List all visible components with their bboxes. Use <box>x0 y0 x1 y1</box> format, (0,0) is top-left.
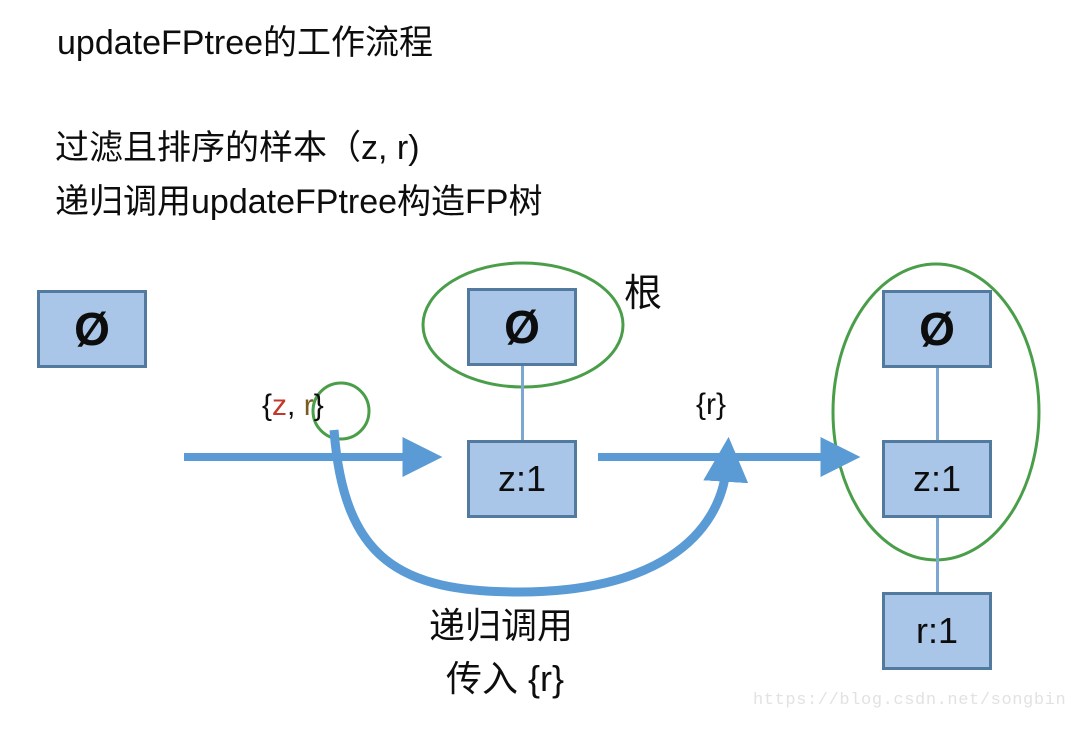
node-mid-root: Ø <box>467 288 577 366</box>
subtitle-line-1: 过滤且排序的样本（z, r) <box>55 131 420 165</box>
tree-edge-right-z-to-r <box>936 518 939 594</box>
watermark: https://blog.csdn.net/songbinxu <box>753 692 1066 709</box>
brace-open: { <box>262 389 272 422</box>
item-r: r <box>304 389 314 422</box>
transaction-set-zr-label: {z, r} <box>262 389 324 423</box>
node-left-empty-root: Ø <box>37 290 147 368</box>
recursion-caption-line-1: 递归调用 <box>429 608 573 644</box>
node-right-r1: r:1 <box>882 592 992 670</box>
node-right-root: Ø <box>882 290 992 368</box>
root-annotation-label: 根 <box>624 275 662 313</box>
node-mid-z1: z:1 <box>467 440 577 518</box>
tree-edge-mid-root-to-z <box>521 366 524 442</box>
tree-edge-right-root-to-z <box>936 368 939 442</box>
transaction-set-r-label: {r} <box>696 390 726 420</box>
subtitle-line-2: 递归调用updateFPtree构造FP树 <box>55 185 542 219</box>
diagram-canvas: updateFPtree的工作流程 过滤且排序的样本（z, r) 递归调用upd… <box>0 0 1066 730</box>
page-title: updateFPtree的工作流程 <box>57 26 433 60</box>
recursion-caption-line-2: 传入 {r} <box>446 661 564 697</box>
node-right-z1: z:1 <box>882 440 992 518</box>
brace-close: } <box>314 389 324 422</box>
item-z: z <box>272 389 287 422</box>
item-separator: , <box>287 389 304 422</box>
